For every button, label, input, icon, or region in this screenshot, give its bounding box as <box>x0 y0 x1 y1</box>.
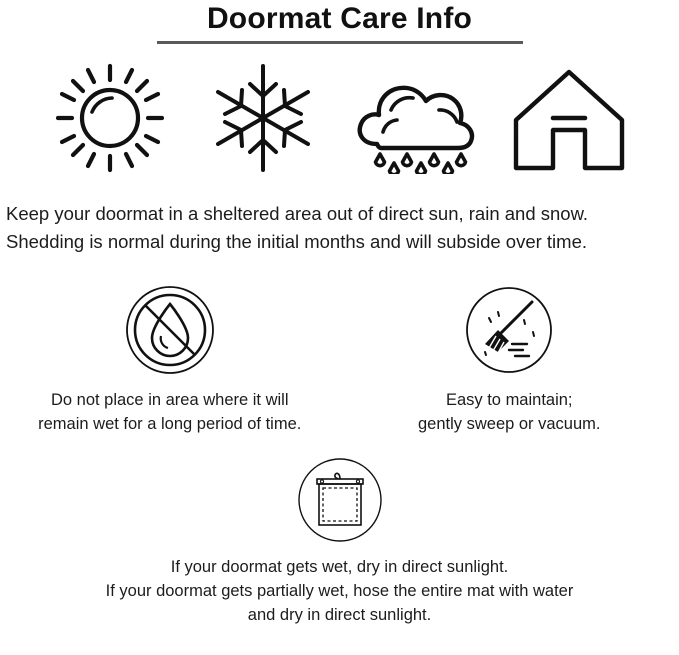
hanging-mat-badge <box>297 454 383 546</box>
drying-instruction-section: If your doormat gets wet, dry in direct … <box>0 454 679 627</box>
page-title: Doormat Care Info <box>0 2 679 36</box>
intro-paragraph: Keep your doormat in a sheltered area ou… <box>0 174 679 256</box>
sun-icon <box>56 62 164 174</box>
drying-line-2: If your doormat gets partially wet, hose… <box>106 579 574 603</box>
care-instruction-row: Do not place in area where it will remai… <box>0 282 679 436</box>
no-water-badge <box>124 282 216 378</box>
care-right-line-2: gently sweep or vacuum. <box>418 412 601 436</box>
weather-icon-cell-snowflake <box>188 62 338 174</box>
care-left-line-1: Do not place in area where it will <box>38 388 301 412</box>
care-left-line-2: remain wet for a long period of time. <box>38 412 301 436</box>
page-header: Doormat Care Info <box>0 0 679 44</box>
drying-line-3: and dry in direct sunlight. <box>106 603 574 627</box>
intro-line-1: Keep your doormat in a sheltered area ou… <box>6 200 673 228</box>
weather-icon-cell-house <box>494 62 644 174</box>
house-icon <box>510 62 628 174</box>
care-item-easy-maintain: Easy to maintain; gently sweep or vacuum… <box>340 282 679 436</box>
broom-badge <box>465 282 553 378</box>
care-right-line-1: Easy to maintain; <box>418 388 601 412</box>
drying-text: If your doormat gets wet, dry in direct … <box>106 555 574 627</box>
broom-icon <box>465 286 553 374</box>
care-text-easy-maintain: Easy to maintain; gently sweep or vacuum… <box>418 388 601 436</box>
weather-icon-row <box>0 44 679 174</box>
no-water-icon <box>124 284 216 376</box>
care-text-no-standing-water: Do not place in area where it will remai… <box>38 388 301 436</box>
snowflake-icon <box>215 62 311 174</box>
care-item-no-standing-water: Do not place in area where it will remai… <box>0 282 340 436</box>
drying-line-1: If your doormat gets wet, dry in direct … <box>106 555 574 579</box>
rain-cloud-icon <box>353 62 479 174</box>
hanging-mat-icon <box>297 457 383 543</box>
weather-icon-cell-sun <box>35 62 185 174</box>
weather-icon-cell-rain-cloud <box>341 62 491 174</box>
intro-line-2: Shedding is normal during the initial mo… <box>6 228 673 256</box>
